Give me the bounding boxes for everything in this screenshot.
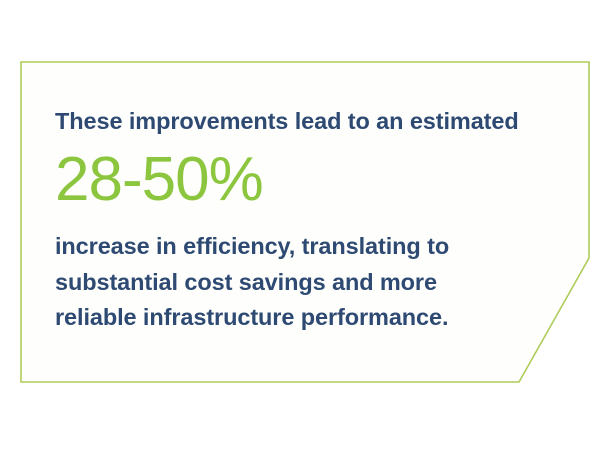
callout-body-line-1: increase in efficiency, translating to bbox=[55, 229, 449, 265]
callout-body: increase in efficiency, translating to s… bbox=[55, 229, 449, 336]
callout-body-line-2: substantial cost savings and more bbox=[55, 265, 449, 301]
callout-body-line-3: reliable infrastructure performance. bbox=[55, 300, 449, 336]
callout-content: These improvements lead to an estimated … bbox=[55, 62, 575, 382]
slide-canvas: These improvements lead to an estimated … bbox=[0, 0, 611, 457]
callout-stat-value: 28-50% bbox=[55, 149, 263, 211]
callout-headline: These improvements lead to an estimated bbox=[55, 108, 519, 135]
